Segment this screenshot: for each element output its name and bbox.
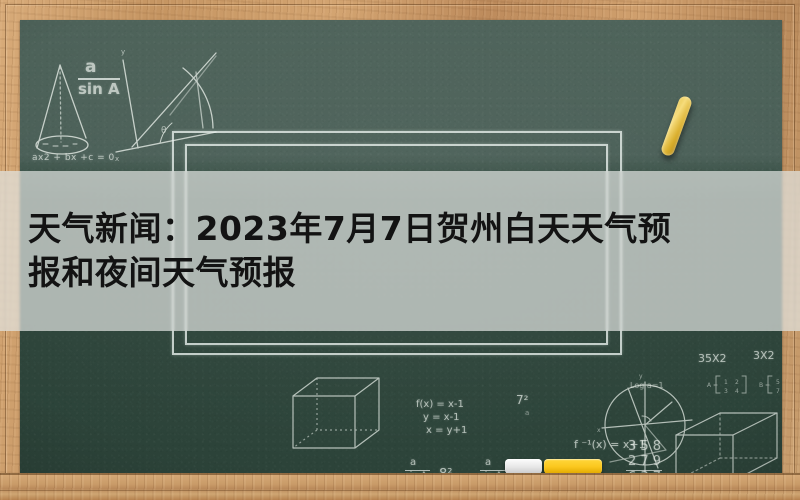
- ledge-mid-line: [0, 490, 800, 491]
- ledge-grain: [0, 473, 800, 500]
- page-title-line-1: 天气新闻：2023年7月7日贺州白天天气预: [28, 207, 800, 251]
- white-eraser: [505, 459, 542, 474]
- page-title-line-2: 报和夜间天气预报: [28, 251, 800, 295]
- ledge-top-lip: [0, 473, 800, 475]
- chalkboard-banner: y x θ a sin A ax2 + bx +c = 0: [0, 0, 800, 500]
- chalkboard-ledge: [0, 473, 800, 500]
- yellow-chalk-on-ledge: [544, 459, 602, 474]
- page-title: 天气新闻：2023年7月7日贺州白天天气预 报和夜间天气预报: [0, 171, 800, 331]
